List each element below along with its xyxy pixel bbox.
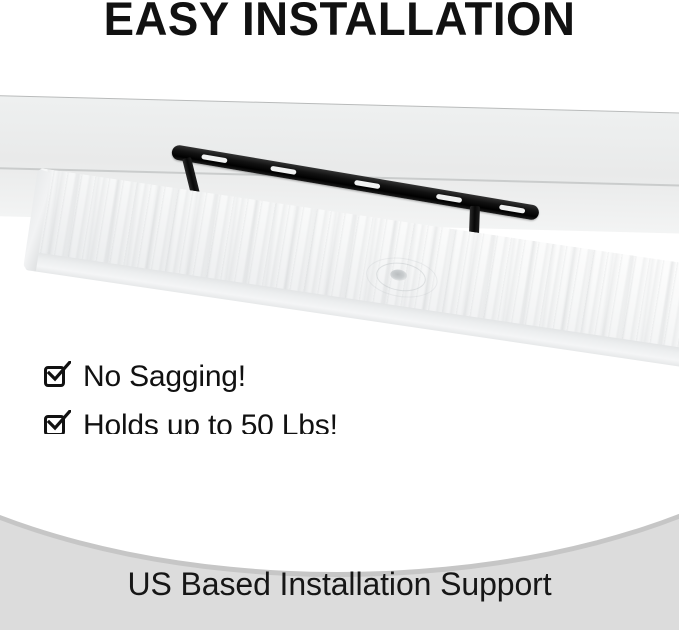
- footer-support-text: US Based Installation Support: [0, 565, 679, 603]
- list-item: No Sagging!: [44, 352, 464, 401]
- bracket-slot: [499, 204, 525, 213]
- page-title: EASY INSTALLATION: [10, 0, 669, 46]
- bracket-slot: [354, 179, 380, 188]
- bracket-slot: [201, 154, 227, 163]
- checked-checkbox-icon: [44, 364, 70, 390]
- footer-curve-decoration: [0, 434, 679, 572]
- feature-label: No Sagging!: [83, 360, 246, 394]
- promo-image-canvas: EASY INSTALLATION: [0, 0, 679, 630]
- bracket-slot: [270, 165, 296, 174]
- bracket-slot: [436, 193, 462, 202]
